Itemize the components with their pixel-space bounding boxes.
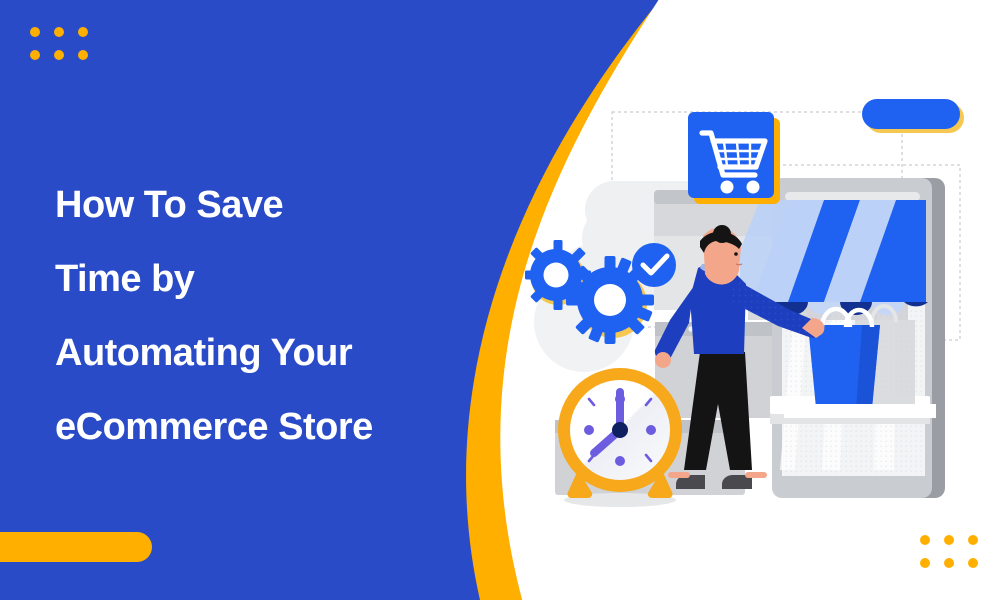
dot: [944, 535, 954, 545]
dot: [30, 50, 40, 60]
accent-pill-bottom-left: [0, 532, 152, 562]
dot-grid-bottom-right: [920, 535, 978, 568]
dot: [944, 558, 954, 568]
dot: [920, 535, 930, 545]
eye: [734, 252, 738, 256]
banner-canvas: How To Save Time by Automating Your eCom…: [0, 0, 1000, 600]
hand: [655, 352, 671, 368]
mouth: [736, 264, 742, 265]
dot: [968, 558, 978, 568]
dot: [30, 27, 40, 37]
hair: [713, 225, 731, 243]
clock-marker: [584, 425, 594, 435]
clock-marker: [615, 456, 625, 466]
dot: [78, 50, 88, 60]
dot: [78, 27, 88, 37]
cart-wheel: [747, 181, 760, 194]
cart-wheel: [721, 181, 734, 194]
accent-pill: [862, 99, 964, 133]
dot: [54, 27, 64, 37]
dot: [968, 535, 978, 545]
alarm-clock: [558, 368, 682, 507]
illustration: [0, 0, 1000, 600]
clock-pin: [612, 422, 628, 438]
dot-grid-top-left: [30, 27, 88, 60]
cart-badge: [688, 112, 780, 204]
clock-marker: [646, 425, 656, 435]
dot: [920, 558, 930, 568]
check-badge: [632, 243, 676, 287]
dot: [54, 50, 64, 60]
